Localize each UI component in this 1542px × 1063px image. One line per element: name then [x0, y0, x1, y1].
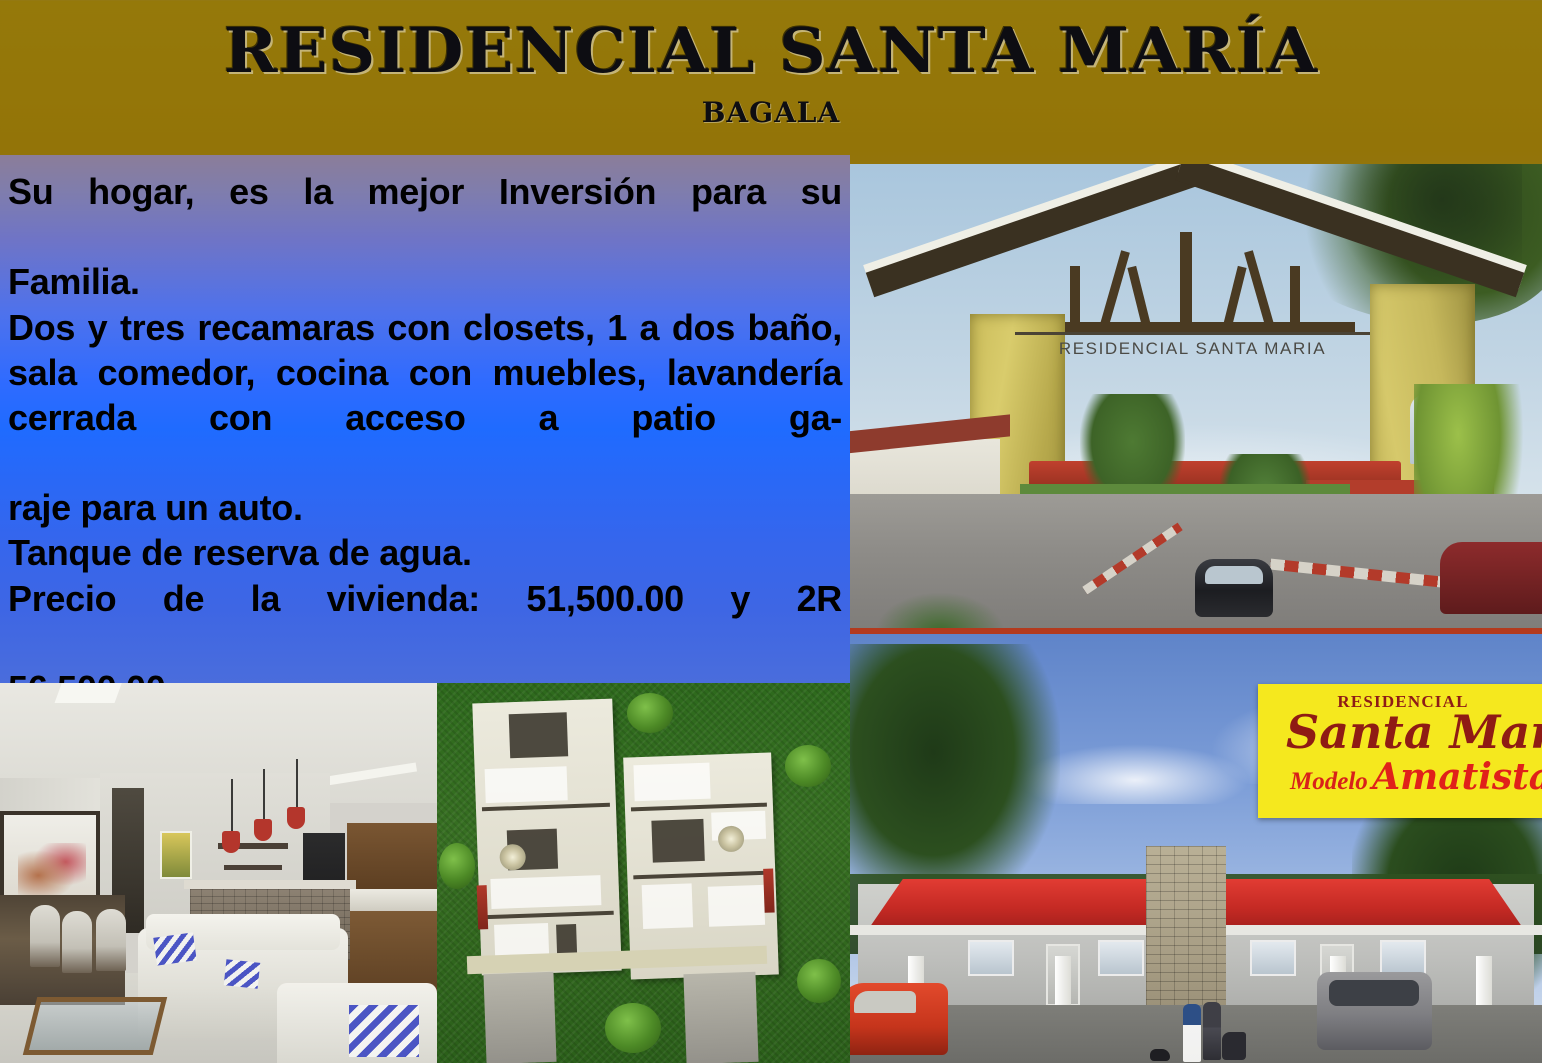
plan-wall-a1	[482, 803, 610, 811]
house-dog-icon	[1150, 1049, 1170, 1061]
plan-bush-1-icon	[627, 693, 673, 733]
plan-wall-b2	[633, 871, 769, 880]
amatista-billboard-sign: RESIDENCIAL Santa Maria Modelo Amatista	[1258, 684, 1542, 818]
interior-dining-chair-3	[96, 909, 126, 971]
plan-bush-5-icon	[439, 843, 475, 889]
interior-wall-art-small	[160, 831, 192, 879]
aerial-floor-plan-photo	[437, 683, 850, 1063]
billboard-model-row: Modelo Amatista	[1258, 756, 1542, 798]
living-dining-interior-photo	[0, 683, 437, 1063]
copy-paragraph-features: Dos y tres recamaras con closets, 1 a do…	[8, 305, 842, 486]
page-title: RESIDENCIAL SANTA MARÍA	[0, 0, 1542, 82]
plan-room-b4	[642, 883, 694, 929]
plan-room-b2	[651, 819, 704, 863]
gate-black-car	[1195, 559, 1273, 617]
house-silver-car	[1317, 972, 1432, 1050]
house-window-2	[1098, 940, 1144, 976]
plan-bush-3-icon	[605, 1003, 661, 1053]
plan-room-b1	[633, 763, 710, 802]
copy-line-4: Tanque de reserva de agua.	[8, 530, 842, 575]
interior-kitchen-shelf-2	[224, 865, 282, 870]
house-roof-left	[850, 879, 1180, 927]
house-red-car	[850, 983, 948, 1055]
copy-price-line-2: 56,500.00.	[8, 666, 842, 683]
house-window-4	[1380, 940, 1426, 976]
plan-unit-left	[472, 699, 621, 976]
billboard-modelo-label: Modelo	[1290, 768, 1368, 795]
house-stroller-icon	[1222, 1032, 1246, 1060]
entrance-gate-photo: RESIDENCIAL SANTA MARIA	[850, 164, 1542, 634]
gate-foreground-plant-icon	[875, 592, 1005, 632]
interior-dining-chair-2	[62, 911, 92, 973]
gate-roof-truss	[1025, 226, 1355, 336]
copy-price-paragraph: Precio de la vivienda: 51,500.00 y 2R	[8, 576, 842, 666]
plan-driveway-right	[683, 972, 758, 1063]
plan-room-a1	[509, 712, 569, 758]
copy-line-3: raje para un auto.	[8, 485, 842, 530]
plan-bush-4-icon	[797, 959, 841, 1003]
plan-room-a2	[485, 766, 568, 803]
interior-coffee-table	[23, 997, 167, 1055]
house-window-3	[1250, 940, 1296, 976]
description-panel: Su hogar, es la mejor Inversión para su …	[0, 155, 850, 683]
billboard-brand: Santa Maria	[1258, 710, 1542, 754]
poster-header: RESIDENCIAL SANTA MARÍA BAGALA	[0, 0, 1542, 160]
plan-room-b5	[708, 885, 765, 927]
house-person-man	[1203, 1002, 1221, 1060]
house-eave-right	[1212, 925, 1542, 935]
model-house-photo: RESIDENCIAL Santa Maria Modelo Amatista	[850, 634, 1542, 1063]
gate-red-car	[1440, 542, 1542, 614]
interior-wall-art-large	[0, 811, 100, 906]
billboard-model-name: Amatista	[1372, 756, 1542, 798]
plan-floor-medallion-b	[718, 825, 745, 852]
interior-kitchen-countertop	[342, 889, 437, 911]
gate-sign-rail	[1015, 332, 1370, 335]
plan-wall-a2	[486, 911, 614, 919]
plan-driveway-left	[483, 972, 556, 1063]
interior-cushion-1	[153, 932, 197, 965]
interior-pendant-lamp-2-icon	[254, 819, 272, 841]
interior-lamp-cord-2	[263, 769, 265, 819]
copy-line-1: Su hogar, es la mejor Inversión para su	[8, 169, 842, 259]
interior-pendant-lamp-1-icon	[222, 831, 240, 853]
copy-line-2: Familia.	[8, 259, 842, 304]
plan-bush-2-icon	[785, 745, 831, 787]
house-eave-left	[850, 925, 1180, 935]
plan-room-a4	[490, 875, 601, 909]
gate-sign-text: RESIDENCIAL SANTA MARIA	[1015, 339, 1370, 359]
interior-cushion-2	[224, 959, 261, 988]
interior-dining-chair-1	[30, 905, 60, 967]
plan-red-accent-b	[763, 868, 775, 912]
house-person-woman	[1183, 1004, 1201, 1062]
plan-red-accent-a	[477, 885, 489, 929]
interior-pendant-lamp-3-icon	[287, 807, 305, 829]
interior-lamp-cord-1	[231, 779, 233, 831]
interior-cushion-3	[349, 1005, 419, 1057]
interior-lamp-cord-3	[296, 759, 298, 807]
house-roof-right	[1212, 879, 1542, 927]
interior-ceiling-panel	[55, 683, 126, 703]
interior-upper-cabinet	[347, 823, 437, 889]
house-window-1	[968, 940, 1014, 976]
plan-wall-b1	[631, 803, 767, 812]
page-subtitle: BAGALA	[0, 96, 1542, 129]
